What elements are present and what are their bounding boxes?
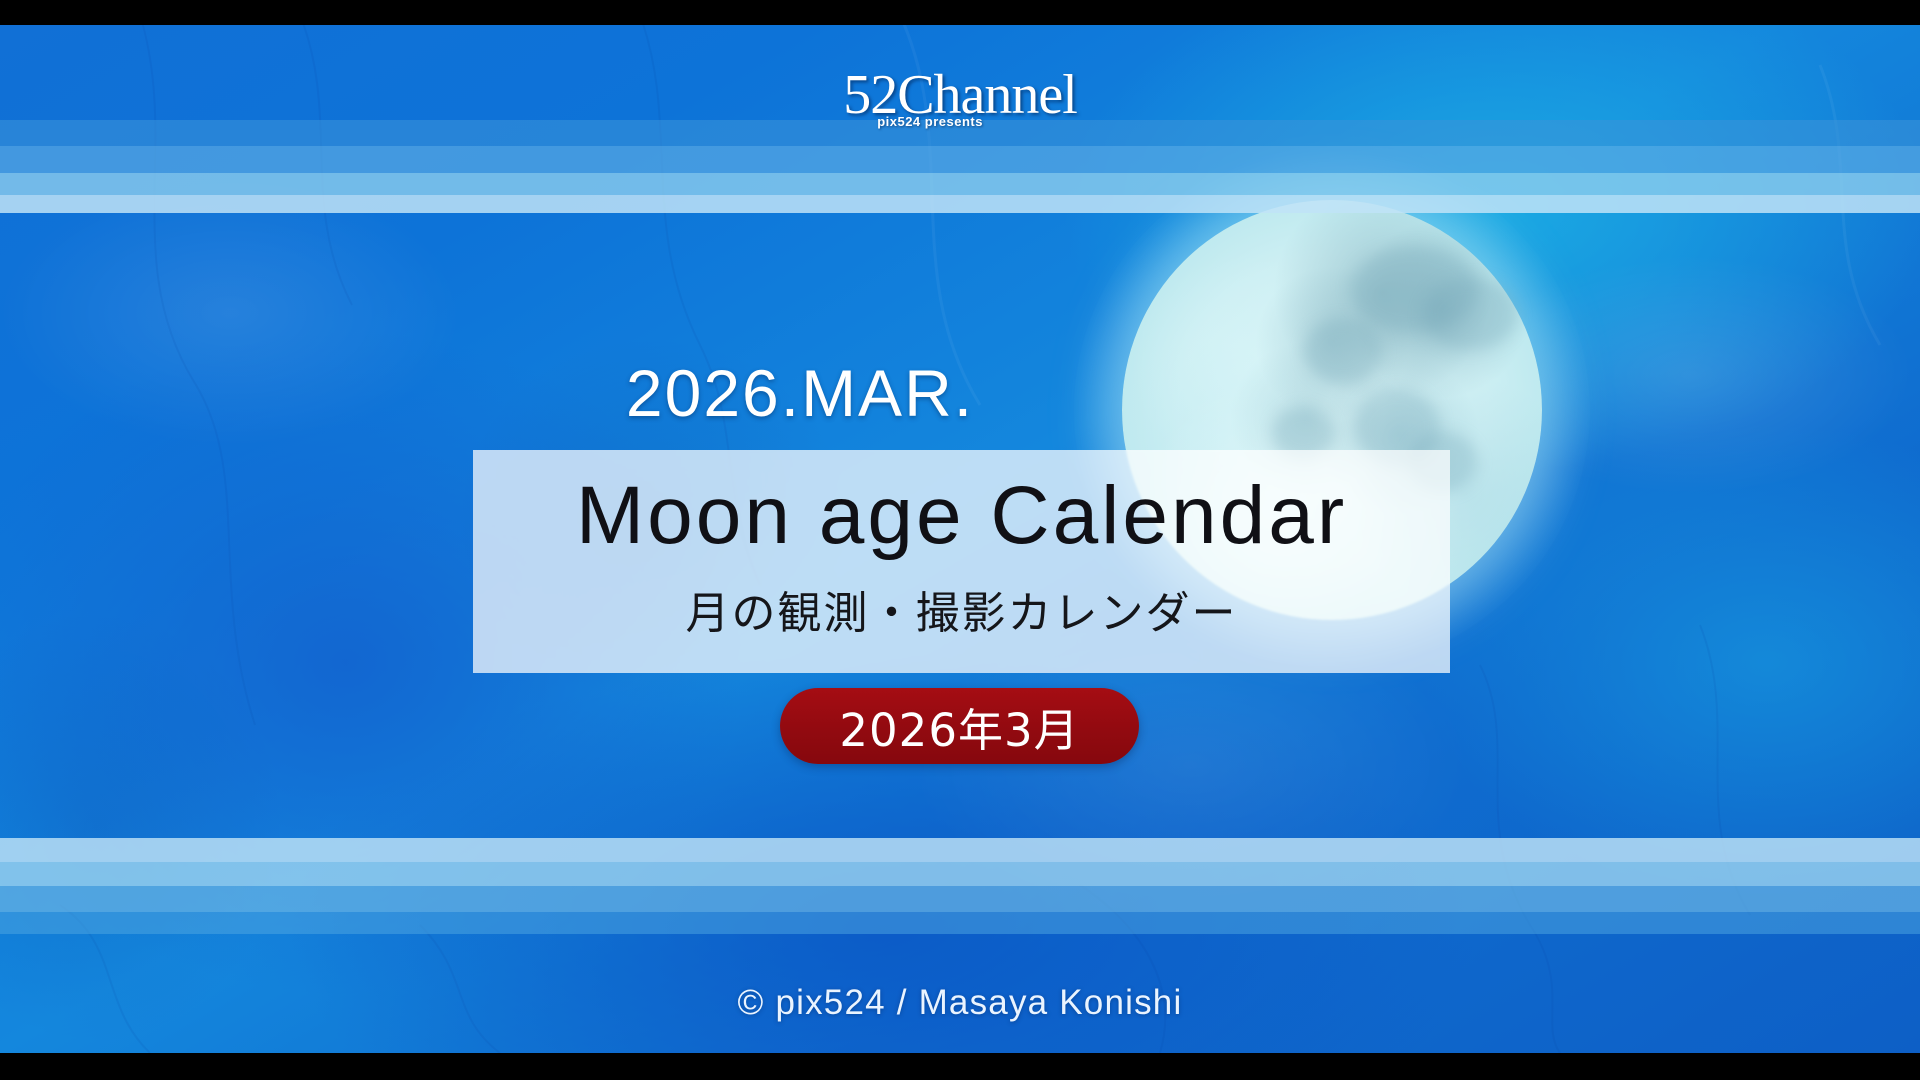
stripe-bottom-4 [0, 912, 1920, 934]
month-badge: 2026年3月 [780, 688, 1139, 764]
letterbox-bottom [0, 1053, 1920, 1080]
letterbox-top [0, 0, 1920, 25]
hero-title-en: Moon age Calendar [473, 468, 1450, 565]
slide-canvas: 52Channel pix524 presents 2026.MAR. Moon… [0, 0, 1920, 1080]
hero-title-ja: 月の観測・撮影カレンダー [473, 577, 1450, 641]
stripe-top-4 [0, 195, 1920, 213]
stripe-top-3 [0, 173, 1920, 195]
stripe-top-2 [0, 146, 1920, 173]
hero-date-en: 2026.MAR. [0, 355, 1760, 431]
moon-mare-2 [1422, 278, 1518, 350]
stripe-top-1 [0, 120, 1920, 146]
stripe-bottom-1 [0, 838, 1920, 862]
month-badge-label: 2026年3月 [839, 694, 1079, 759]
copyright-credit: © pix524 / Masaya Konishi [0, 983, 1920, 1023]
stripe-bottom-3 [0, 886, 1920, 912]
video-frame: 52Channel pix524 presents 2026.MAR. Moon… [0, 25, 1920, 1053]
stripe-bottom-2 [0, 862, 1920, 886]
